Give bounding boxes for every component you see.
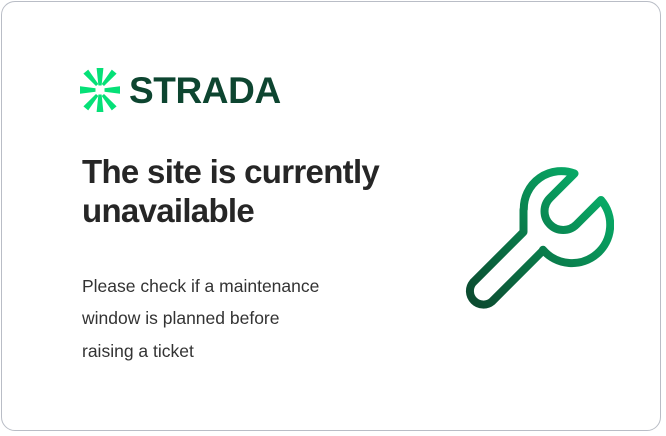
- wrench-illustration: [454, 150, 614, 314]
- page-title: The site is currently unavailable: [82, 152, 412, 231]
- status-page-card: STRADA The site is currently unavailable…: [1, 1, 661, 431]
- description-line: window is planned before: [82, 302, 402, 334]
- starburst-asterisk-icon: [80, 68, 120, 112]
- page-description: Please check if a maintenance window is …: [82, 270, 402, 367]
- brand-wordmark: STRADA: [129, 72, 281, 109]
- description-line: Please check if a maintenance: [82, 270, 402, 302]
- description-line: raising a ticket: [82, 335, 402, 367]
- brand-logo: STRADA: [80, 68, 281, 112]
